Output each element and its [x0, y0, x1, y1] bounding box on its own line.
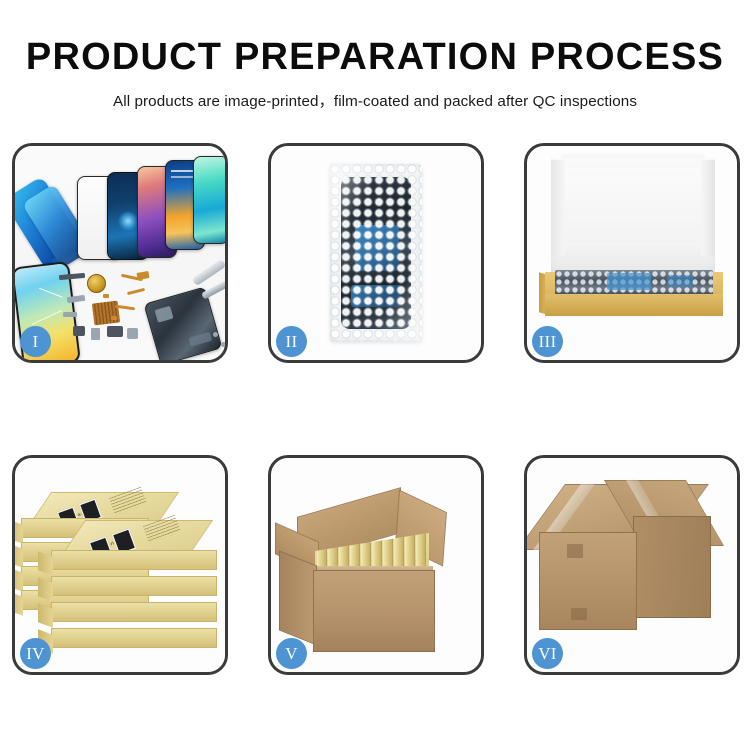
- step-panel-6: VI: [524, 455, 740, 675]
- retail-box-layer-f3: [51, 602, 217, 622]
- vibration-motor-icon: [87, 274, 106, 293]
- carton-seam-mark-1: [567, 544, 583, 558]
- header: PRODUCT PREPARATION PROCESS All products…: [0, 0, 750, 109]
- retail-box-layer-f2: [51, 576, 217, 596]
- bracket-icon-2: [63, 312, 77, 317]
- step-5-image: [271, 458, 481, 672]
- camera-module-icon: [107, 326, 123, 337]
- product-preparation-infographic: PRODUCT PREPARATION PROCESS All products…: [0, 0, 750, 750]
- box-lid-right-flap: [701, 160, 715, 256]
- step-2-image: [271, 146, 481, 360]
- sim-tray-icon: [91, 328, 100, 340]
- step-panel-5: V: [268, 455, 484, 675]
- retail-box-layer-f1: [51, 550, 217, 570]
- carton-front-face: [313, 570, 435, 652]
- small-chip-icon-1: [103, 294, 109, 298]
- step-badge-3: III: [532, 326, 563, 357]
- step-panel-1: I: [12, 143, 228, 363]
- retail-box-layer-f4: [51, 628, 217, 648]
- retail-box-stack-icon: Mobile Phone Spare Parts Mobile Phone Sp…: [15, 458, 225, 672]
- step-3-image: [527, 146, 737, 360]
- steps-grid: I II: [12, 143, 740, 683]
- carton-left-face: [279, 550, 317, 645]
- kraft-tray-front-face: [545, 294, 723, 316]
- step-badge-4: IV: [20, 638, 51, 669]
- step-panel-4: Mobile Phone Spare Parts Mobile Phone Sp…: [12, 455, 228, 675]
- screw-icon-1: [213, 332, 218, 337]
- foam-padding-icon: [565, 242, 701, 272]
- bubble-wrap-bag-icon: [330, 164, 422, 342]
- step-badge-2: II: [276, 326, 307, 357]
- screw-icon-2: [221, 342, 225, 347]
- step-badge-1: I: [20, 326, 51, 357]
- step-badge-5: V: [276, 638, 307, 669]
- sealed-carton-right-face: [633, 516, 711, 618]
- step-badge-6: VI: [532, 638, 563, 669]
- plastic-sheen-overlay: [330, 164, 422, 342]
- sealed-carton-front-face: [539, 532, 637, 630]
- step-6-image: [527, 458, 737, 672]
- carton-seam-mark-2: [571, 608, 587, 620]
- step-4-image: Mobile Phone Spare Parts Mobile Phone Sp…: [15, 458, 225, 672]
- step-panel-3: III: [524, 143, 740, 363]
- step-panel-2: II: [268, 143, 484, 363]
- teal-gradient-phone-screen-icon: [193, 156, 225, 244]
- small-chip-icon-2: [111, 316, 117, 320]
- page-subtitle: All products are image-printed，film-coat…: [0, 76, 750, 109]
- speaker-module-icon: [73, 326, 85, 336]
- bubble-wrapped-products-icon: [555, 270, 713, 296]
- step-1-image: [15, 146, 225, 360]
- page-title: PRODUCT PREPARATION PROCESS: [0, 0, 750, 76]
- box-lid-left-flap: [551, 160, 565, 256]
- taptic-engine-icon: [127, 328, 138, 339]
